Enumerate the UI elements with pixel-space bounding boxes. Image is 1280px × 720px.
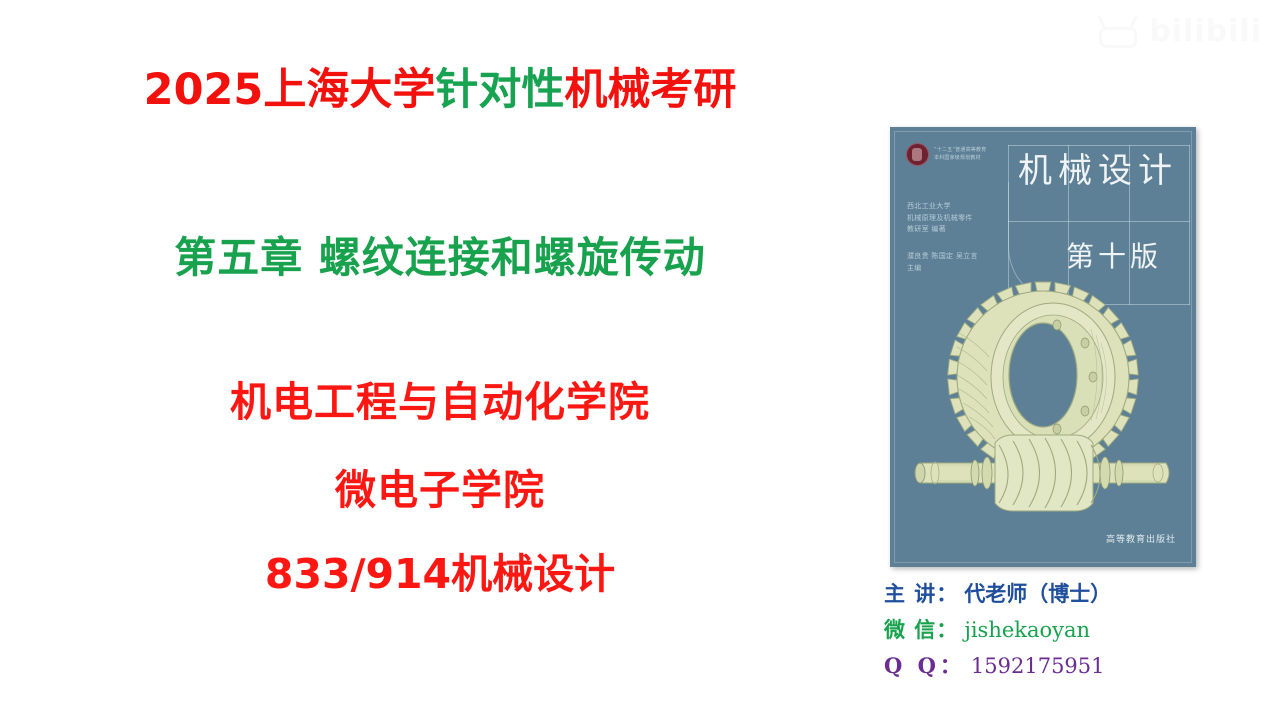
contact-label-wechat: 微 信： <box>884 614 958 644</box>
national-planning-seal-icon <box>906 143 929 166</box>
worm-gear-illustration-icon <box>890 277 1196 527</box>
department-line-course-code: 833/914机械设计 <box>0 554 880 596</box>
contact-value-lecturer: 代老师（博士） <box>964 578 1111 608</box>
bilibili-tv-mascot-icon <box>1095 14 1141 48</box>
slide-text-column: 2025上海大学针对性机械考研 第五章 螺纹连接和螺旋传动 机电工程与自动化学院… <box>0 0 880 720</box>
title-segment-3: 机械考研 <box>564 65 736 115</box>
contact-label-lecturer: 主 讲： <box>884 578 958 608</box>
cover-book-edition: 第十版 <box>1066 235 1162 275</box>
contact-info-block: 主 讲： 代老师（博士） 微 信： jishekaoyan Q Q： 15921… <box>884 578 1274 686</box>
contact-row-qq: Q Q： 1592175951 <box>884 650 1274 680</box>
cover-credits-editors: 濮良贵 陈国定 吴立言 主编 <box>907 251 978 274</box>
textbook-cover-image: “十二五”普通高等教育 本科国家级规划教材 西北工业大学 机械原理及机械零件 教… <box>890 127 1196 567</box>
page-title: 2025上海大学针对性机械考研 <box>0 66 880 115</box>
bilibili-watermark: bilibili <box>1095 14 1262 48</box>
cover-publisher-name: 高等教育出版社 <box>1106 532 1176 545</box>
department-line-microelectronics: 微电子学院 <box>0 470 880 512</box>
title-segment-1: 2025上海大学 <box>144 65 436 115</box>
contact-value-qq: 1592175951 <box>971 654 1105 678</box>
cover-credits-institution: 西北工业大学 机械原理及机械零件 教研室 编著 <box>907 201 973 236</box>
cover-badge: “十二五”普通高等教育 本科国家级规划教材 <box>906 143 986 166</box>
bilibili-wordmark: bilibili <box>1149 17 1262 47</box>
contact-row-lecturer: 主 讲： 代老师（博士） <box>884 578 1274 608</box>
title-segment-2: 针对性 <box>435 65 564 115</box>
presentation-slide: bilibili 2025上海大学针对性机械考研 第五章 螺纹连接和螺旋传动 机… <box>0 0 1280 720</box>
cover-book-title: 机械设计 <box>1018 153 1188 190</box>
chapter-title: 第五章 螺纹连接和螺旋传动 <box>0 224 880 285</box>
department-line-school: 机电工程与自动化学院 <box>0 382 880 424</box>
contact-label-qq: Q Q： <box>884 650 965 680</box>
cover-badge-text: “十二五”普通高等教育 本科国家级规划教材 <box>934 147 986 162</box>
contact-row-wechat: 微 信： jishekaoyan <box>884 614 1274 644</box>
department-block: 机电工程与自动化学院 微电子学院 833/914机械设计 <box>0 382 880 595</box>
contact-value-wechat: jishekaoyan <box>964 618 1090 642</box>
